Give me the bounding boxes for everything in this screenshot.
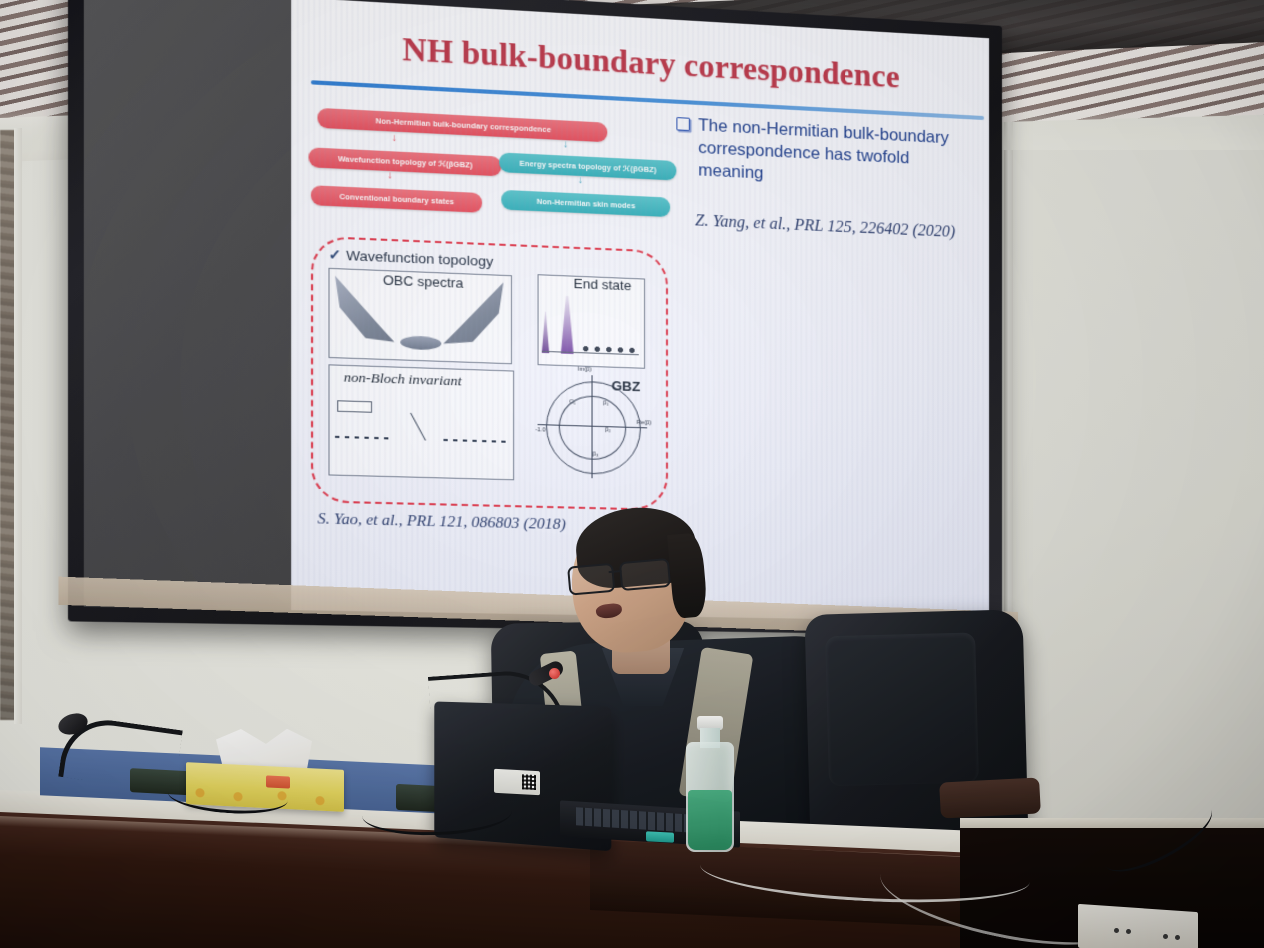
flowchart-box-skin-modes: Non-Hermitian skin modes [501,190,670,217]
flowchart-box-energy-spectra-topology: Energy spectra topology of ℋ(βGBZ) [499,152,676,180]
microphone-indicator-light [549,668,560,679]
laptop-sticker [494,769,540,795]
check-icon: ✓ [328,247,340,263]
figure-label-gbz: GBZ [611,378,640,394]
flowchart-box-root: Non-Hermitian bulk-boundary corresponden… [318,108,608,142]
screenshot-root: NH bulk-boundary correspondence Non-Herm… [0,0,1264,948]
flowchart-box-conventional-boundary-states: Conventional boundary states [311,185,482,213]
wall-display[interactable]: NH bulk-boundary correspondence Non-Herm… [68,0,1002,636]
non-bloch-param-tag [337,400,372,413]
outlet-socket-hole [1114,928,1119,933]
flowchart-arrow-down-icon: ↓ [578,176,583,187]
outlet-socket-hole [1126,929,1131,934]
citation-yang: Z. Yang, et al., PRL 125, 226402 (2020) [695,211,970,244]
figure-label-end-state: End state [574,276,632,294]
bottle-contents [688,790,732,850]
flowchart-arrow-down-icon: ↓ [387,171,392,182]
gbz-axis-min-label: -1.0 [535,427,545,434]
gbz-point-b2: β₂ [605,427,611,433]
glasses-right-lens [619,558,671,591]
usb-device[interactable] [646,831,674,842]
flowchart-box-wavefunction-topology: Wavefunction topology of ℋ(βGBZ) [309,147,502,176]
gbz-imag-axis [591,375,592,478]
bullet-text: The non-Hermitian bulk-boundary correspo… [698,115,972,195]
flowchart-arrow-down-icon: ↓ [392,134,397,145]
gbz-imag-axis-label: Im(β) [578,367,592,374]
gbz-point-c1: C₁ [569,399,575,405]
square-checkbox-icon [676,117,690,131]
flowchart: Non-Hermitian bulk-boundary corresponden… [309,107,662,232]
outlet-socket-hole [1175,935,1180,940]
power-outlet-panel[interactable] [1078,904,1198,948]
chair-right-arm [939,777,1041,818]
outlet-socket-hole [1163,934,1168,939]
display-dark-margin [84,0,291,610]
gbz-real-axis-label: Re(β) [637,420,652,427]
flowchart-arrow-down-icon: ↓ [563,140,568,151]
column-trim [14,128,22,724]
gbz-point-b3: β₃ [593,451,599,457]
display-panel: NH bulk-boundary correspondence Non-Herm… [84,0,989,622]
slide-bullet-block: The non-Hermitian bulk-boundary correspo… [676,114,972,195]
glasses-left-lens [567,563,615,596]
figure-label-obc-spectra: OBC spectra [383,272,463,291]
gbz-point-b1: β₁ [603,400,608,406]
